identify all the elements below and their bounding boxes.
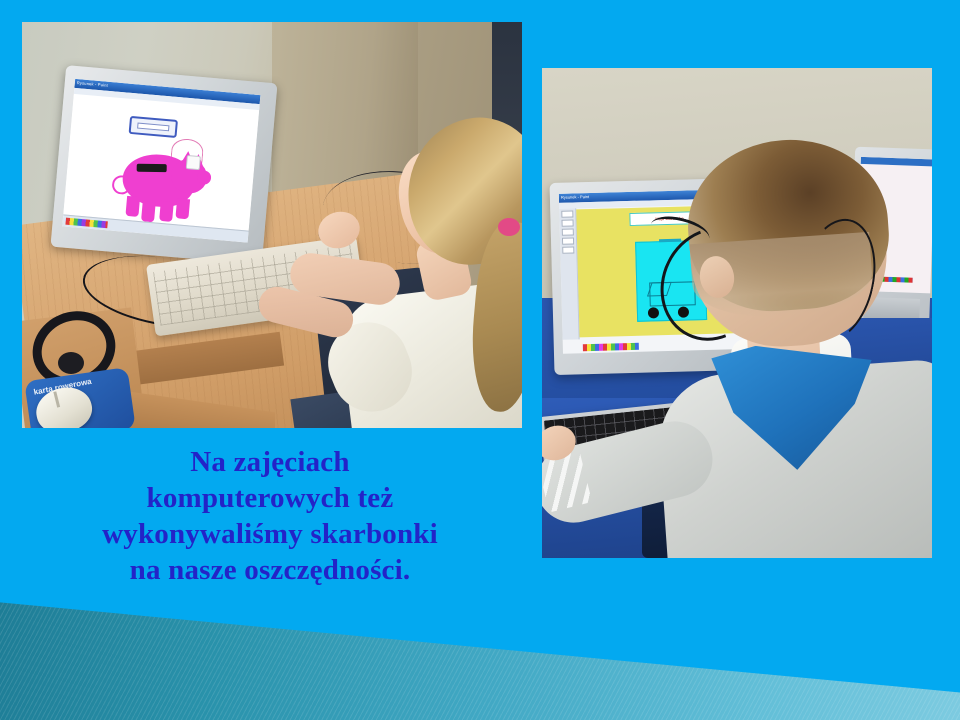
slide-canvas: Rysunek - Paint — [0, 0, 960, 720]
tool-icon[interactable] — [562, 228, 574, 235]
piggy-coin-slot — [137, 164, 167, 173]
color-palette-left[interactable] — [65, 218, 107, 229]
tool-icon[interactable] — [561, 210, 573, 217]
photo-left-girl-at-computer[interactable]: Rysunek - Paint — [22, 22, 522, 428]
photo-right-boy-at-computer[interactable]: Rysunek - Paint Moja skarbonka — [542, 68, 932, 558]
girl-hair-tie — [498, 218, 520, 236]
color-palette-right[interactable] — [583, 343, 639, 351]
slide-caption: Na zajęciach komputerowych też wykonywal… — [24, 444, 516, 588]
piggy-leg — [141, 201, 156, 222]
coin-icon — [186, 155, 201, 170]
paint-title-text-right: Rysunek - Paint — [561, 194, 589, 200]
piggy-bank-drawing — [107, 133, 218, 230]
mouse-button-divider — [53, 391, 60, 407]
piggy-snout — [196, 170, 211, 185]
tool-icon[interactable] — [561, 219, 573, 226]
piggy-leg — [125, 196, 140, 217]
caption-line-4: na nasze oszczędności. — [24, 552, 516, 588]
footer-band-texture — [0, 600, 960, 720]
tool-icon[interactable] — [562, 246, 574, 253]
tool-icon[interactable] — [562, 237, 574, 244]
footer-decoration — [0, 590, 960, 720]
headphone-earcup — [58, 352, 84, 374]
money-box-dot — [648, 307, 659, 318]
paint-title-text-left: Rysunek - Paint — [77, 80, 109, 88]
monitor-screen-left[interactable]: Rysunek - Paint — [62, 79, 260, 243]
background-title-bar — [861, 157, 932, 167]
caption-line-3: wykonywaliśmy skarbonki — [24, 516, 516, 552]
piggy-leg — [159, 201, 174, 222]
caption-line-1: Na zajęciach — [24, 444, 516, 480]
piggy-leg — [175, 198, 190, 219]
monitor-left[interactable]: Rysunek - Paint — [50, 65, 277, 265]
caption-line-2: komputerowych też — [24, 480, 516, 516]
paint-canvas-left[interactable] — [63, 95, 259, 229]
